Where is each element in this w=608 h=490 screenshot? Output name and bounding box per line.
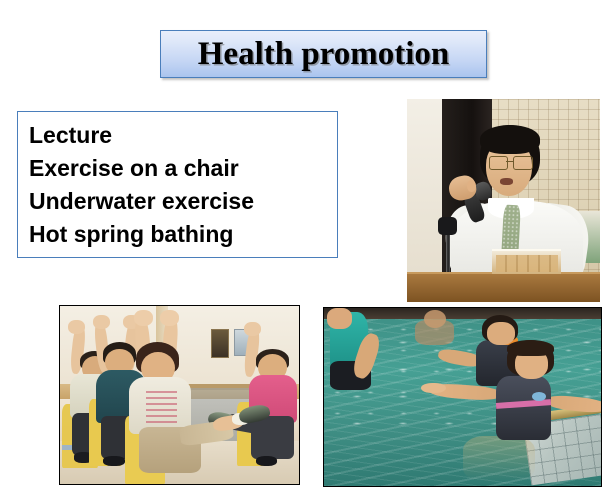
page-title: Health promotion	[198, 38, 449, 71]
lecture-mic-clip	[438, 217, 457, 235]
participant-shoe	[103, 456, 125, 467]
participant-hand	[244, 322, 261, 336]
lecture-glasses-left-lens	[489, 156, 508, 170]
lecture-fringe	[480, 125, 540, 153]
lecture-podium-books	[496, 255, 558, 271]
list-item: Exercise on a chair	[29, 152, 337, 185]
participant-shoe	[256, 456, 278, 467]
participant-hand	[134, 310, 153, 326]
underwater-exercise-photo-canvas	[324, 308, 601, 486]
swimmer-face	[487, 322, 515, 345]
lecture-podium	[407, 274, 600, 302]
swimmer-hand	[421, 383, 446, 394]
program-list-box: Lecture Exercise on a chair Underwater e…	[17, 111, 338, 258]
lecture-photo-canvas	[407, 99, 600, 302]
participant-shirt-print	[146, 391, 177, 423]
swimmer-shoulder	[327, 308, 352, 329]
chair-exercise-photo	[59, 305, 300, 485]
title-banner: Health promotion	[160, 30, 487, 78]
list-item: Underwater exercise	[29, 185, 337, 218]
list-item: Hot spring bathing	[29, 218, 337, 251]
swimmer-fringe	[507, 340, 554, 356]
swimmer-head	[424, 310, 446, 328]
list-item: Lecture	[29, 119, 337, 152]
chair-exercise-photo-canvas	[60, 306, 299, 484]
pool-far-wall	[324, 308, 601, 319]
lecture-photo	[407, 99, 600, 302]
underwater-exercise-photo	[323, 307, 602, 487]
participant-hand	[160, 310, 179, 326]
lecture-glasses-bridge	[506, 161, 513, 162]
swimmer-reflection	[463, 436, 535, 482]
lecture-glasses-right-lens	[513, 156, 532, 170]
participant-hand	[93, 315, 110, 329]
lecture-mouth	[500, 178, 514, 185]
swimmer-suit-badge	[532, 392, 546, 401]
wall-picture	[211, 329, 230, 358]
